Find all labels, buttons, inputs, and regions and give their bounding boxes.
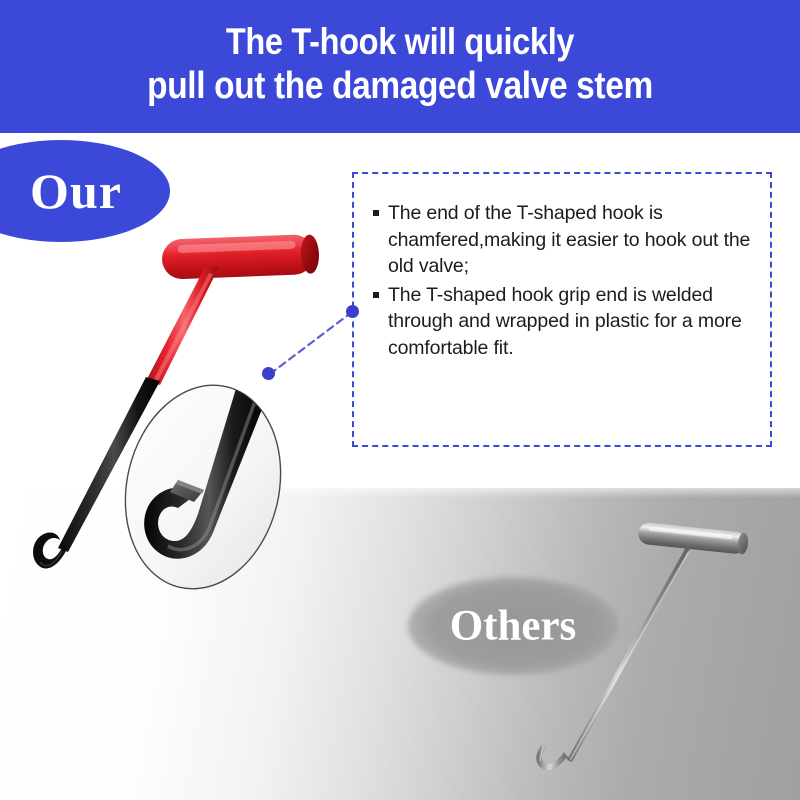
our-badge-label: Our: [0, 166, 170, 216]
gray-t-hook-illustration: [490, 515, 790, 800]
list-item: The end of the T-shaped hook is chamfere…: [372, 200, 764, 280]
header-banner: The T-hook will quickly pull out the dam…: [0, 0, 800, 133]
feature-bullet-list: The end of the T-shaped hook is chamfere…: [372, 200, 764, 363]
hook-closeup-magnifier: [118, 380, 288, 595]
connector-dot-icon: [346, 305, 359, 318]
list-item: The T-shaped hook grip end is welded thr…: [372, 282, 764, 362]
product-comparison-infographic: The T-hook will quickly pull out the dam…: [0, 0, 800, 800]
connector-dot-icon: [262, 367, 275, 380]
others-product-image: [490, 515, 790, 800]
banner-headline-line1: The T-hook will quickly: [48, 20, 752, 64]
magnifier-illustration: [118, 380, 288, 595]
banner-headline-line2: pull out the damaged valve stem: [48, 64, 752, 108]
